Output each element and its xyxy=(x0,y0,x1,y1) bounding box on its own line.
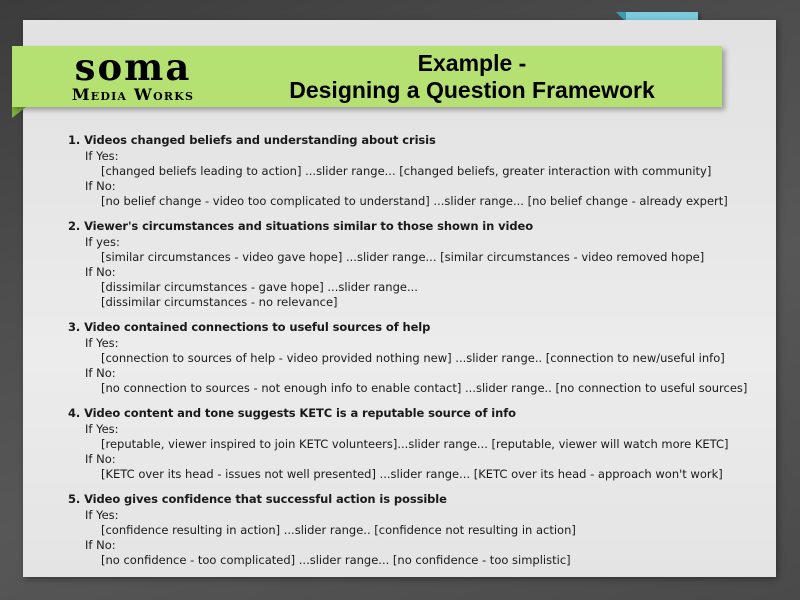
banner-fold-icon xyxy=(12,107,26,118)
slide-title-line-2: Designing a Question Framework xyxy=(237,77,707,104)
soma-logo: soma Media Works xyxy=(28,48,238,106)
question-heading: 5. Video gives confidence that successfu… xyxy=(68,491,778,507)
if-yes-label: If Yes: xyxy=(85,508,778,523)
question-block: 2. Viewer's circumstances and situations… xyxy=(68,218,778,310)
slide-body: 1. Videos changed beliefs and understand… xyxy=(68,132,778,577)
presentation-stage: 1. Videos changed beliefs and understand… xyxy=(0,0,800,600)
no-option-line: [KETC over its head - issues not well pr… xyxy=(101,467,778,482)
question-heading: 4. Video content and tone suggests KETC … xyxy=(68,405,778,421)
slide-title-line-1: Example - xyxy=(237,50,707,77)
yes-option-line: [connection to sources of help - video p… xyxy=(101,351,778,366)
no-option-line: [no connection to sources - not enough i… xyxy=(101,381,778,396)
logo-wordmark: soma xyxy=(28,49,238,86)
if-yes-label: If Yes: xyxy=(85,149,778,164)
if-yes-label: If yes: xyxy=(85,235,778,250)
question-heading: 1. Videos changed beliefs and understand… xyxy=(68,132,778,148)
question-heading: 3. Video contained connections to useful… xyxy=(68,319,778,335)
yes-option-line: [changed beliefs leading to action] ...s… xyxy=(101,164,778,179)
no-option-line: [dissimilar circumstances - no relevance… xyxy=(101,295,778,310)
question-block: 5. Video gives confidence that successfu… xyxy=(68,491,778,568)
if-no-label: If No: xyxy=(85,538,778,553)
if-no-label: If No: xyxy=(85,452,778,467)
no-option-line: [no confidence - too complicated] ...sli… xyxy=(101,553,778,568)
if-no-label: If No: xyxy=(85,366,778,381)
title-banner: soma Media Works Example - Designing a Q… xyxy=(12,46,722,107)
question-block: 3. Video contained connections to useful… xyxy=(68,319,778,396)
if-no-label: If No: xyxy=(85,265,778,280)
if-yes-label: If Yes: xyxy=(85,422,778,437)
if-no-label: If No: xyxy=(85,179,778,194)
yes-option-line: [similar circumstances - video gave hope… xyxy=(101,250,778,265)
if-yes-label: If Yes: xyxy=(85,336,778,351)
slide-title: Example - Designing a Question Framework xyxy=(237,50,707,104)
yes-option-line: [reputable, viewer inspired to join KETC… xyxy=(101,437,778,452)
yes-option-line: [confidence resulting in action] ...slid… xyxy=(101,523,778,538)
question-heading: 2. Viewer's circumstances and situations… xyxy=(68,218,778,234)
question-block: 4. Video content and tone suggests KETC … xyxy=(68,405,778,482)
question-block: 1. Videos changed beliefs and understand… xyxy=(68,132,778,209)
logo-subtitle: Media Works xyxy=(28,86,238,103)
no-option-line: [dissimilar circumstances - gave hope] .… xyxy=(101,280,778,295)
no-option-line: [no belief change - video too complicate… xyxy=(101,194,778,209)
